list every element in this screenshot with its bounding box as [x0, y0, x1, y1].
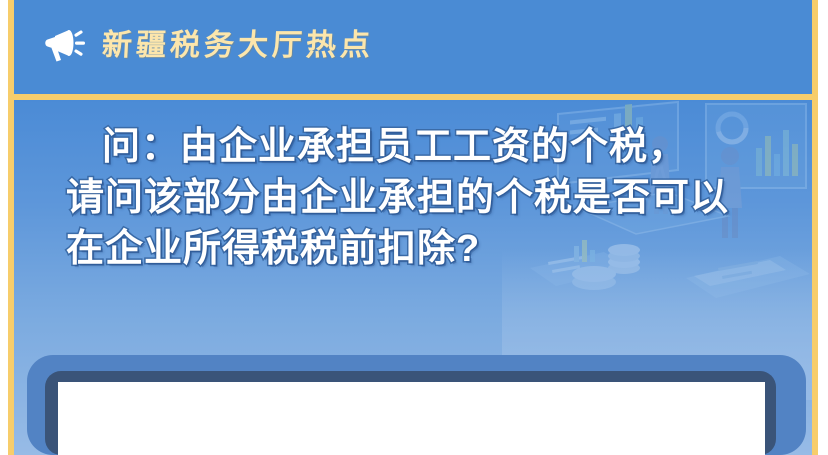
header-band: 新疆税务大厅热点 [14, 0, 812, 94]
header-title: 新疆税务大厅热点 [101, 31, 375, 61]
answer-card [58, 382, 765, 455]
question-line-3: 在企业所得税税前扣除? [66, 224, 766, 275]
header-gold-divider [14, 94, 812, 100]
header-inner: 新疆税务大厅热点 [42, 26, 374, 66]
question-line-1: 问：由企业承担员工工资的个税， [66, 122, 766, 173]
gold-rail-left [8, 0, 14, 455]
gutter-right [818, 0, 828, 455]
tax-hotline-poster: 新疆税务大厅热点 [0, 0, 828, 455]
question-line-2: 请问该部分由企业承担的个税是否可以 [66, 173, 766, 224]
question-block: 问：由企业承担员工工资的个税， 请问该部分由企业承担的个税是否可以 在企业所得税… [66, 122, 766, 275]
gutter-left [0, 0, 8, 455]
megaphone-icon [42, 26, 88, 66]
